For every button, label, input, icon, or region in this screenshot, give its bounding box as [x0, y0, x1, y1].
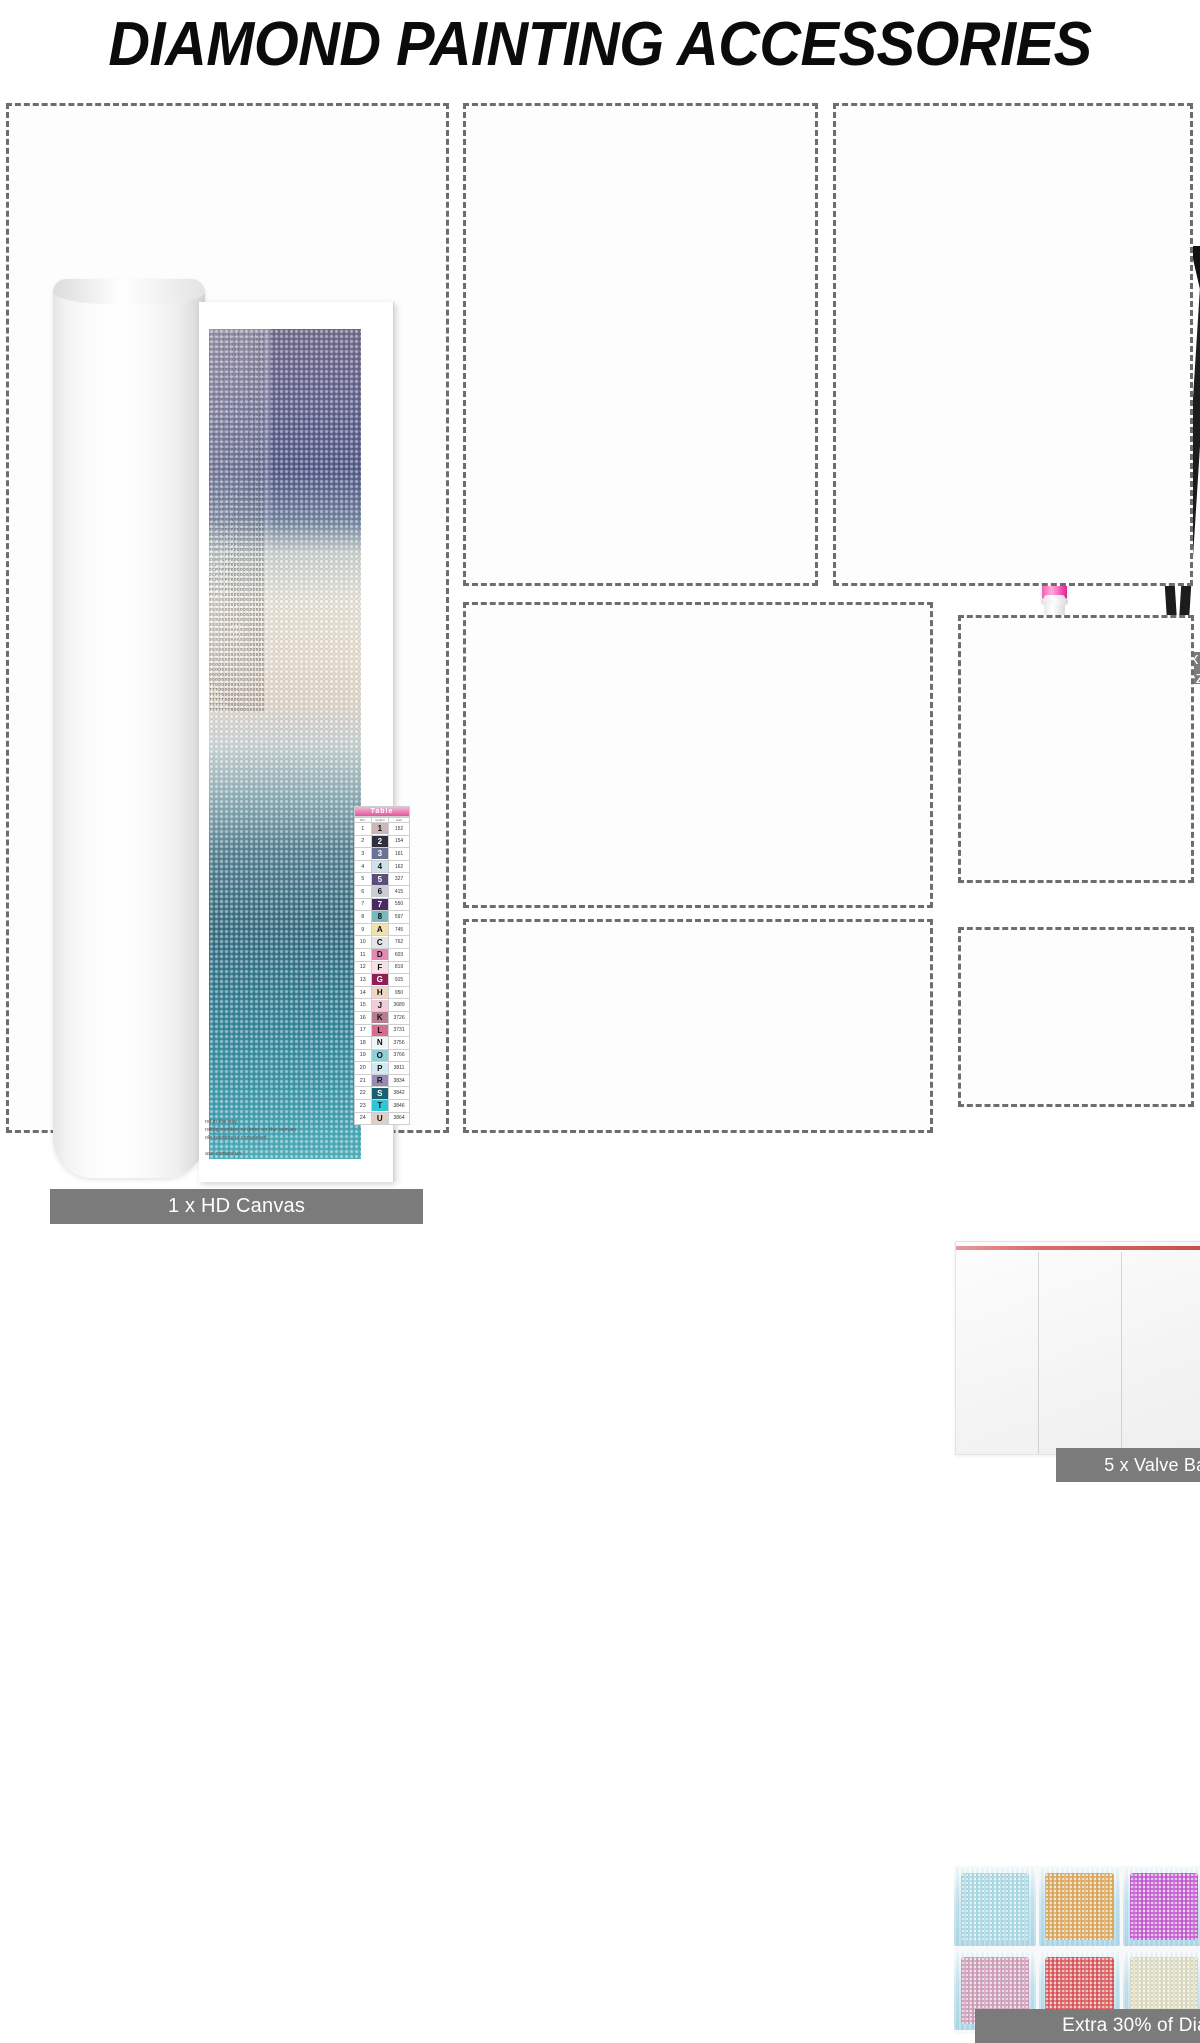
color-row-code: 162 — [389, 860, 410, 873]
color-row-code: 3731 — [389, 1024, 410, 1037]
color-row-no: 18 — [355, 1037, 372, 1050]
color-row-symbol: L — [371, 1024, 389, 1037]
valve-bag-seams — [956, 1252, 1200, 1454]
color-row-no: 7 — [355, 898, 372, 911]
valve-bag-zip-strip — [956, 1246, 1200, 1250]
color-row-code: 745 — [389, 923, 410, 936]
color-row-symbol: P — [371, 1062, 389, 1075]
color-row-code: 3726 — [389, 1011, 410, 1024]
color-row-no: 24 — [355, 1112, 372, 1125]
canvas-roll — [53, 279, 205, 1178]
color-table-row: 55327 — [355, 873, 410, 886]
color-row-no: 2 — [355, 835, 372, 848]
color-row-symbol: S — [371, 1087, 389, 1100]
color-row-no: 20 — [355, 1062, 372, 1075]
color-row-no: 17 — [355, 1024, 372, 1037]
color-row-code: 3756 — [389, 1037, 410, 1050]
color-row-code: 3689 — [389, 999, 410, 1012]
color-row-symbol: 1 — [371, 823, 389, 836]
instruction-line: ole painting is completed — [205, 1134, 385, 1142]
color-row-symbol: O — [371, 1049, 389, 1062]
color-row-no: 6 — [355, 885, 372, 898]
color-row-symbol: D — [371, 948, 389, 961]
color-table-row: 11152 — [355, 823, 410, 836]
diamond-bag — [954, 1868, 1036, 1946]
color-row-no: 19 — [355, 1049, 372, 1062]
color-row-symbol: 8 — [371, 911, 389, 924]
color-row-no: 8 — [355, 911, 372, 924]
color-row-code: 415 — [389, 885, 410, 898]
color-table-row: 77550 — [355, 898, 410, 911]
color-table-row: 10C762 — [355, 936, 410, 949]
color-row-no: 22 — [355, 1087, 372, 1100]
color-row-code: 161 — [389, 848, 410, 861]
color-table-row: 12F819 — [355, 961, 410, 974]
caption-hd-canvas: 1 x HD Canvas — [50, 1189, 423, 1224]
color-table-row: 21R3834 — [355, 1074, 410, 1087]
color-row-no: 16 — [355, 1011, 372, 1024]
color-row-code: 3846 — [389, 1100, 410, 1113]
color-table-row: 19O3766 — [355, 1049, 410, 1062]
canvas-color-table: Table NO. symbol color 11152221543316144… — [354, 806, 410, 1125]
color-table-row: 22S3842 — [355, 1087, 410, 1100]
color-row-no: 5 — [355, 873, 372, 886]
instruction-line: ase contact us. — [205, 1150, 385, 1158]
color-row-no: 10 — [355, 936, 372, 949]
color-table-row: 22154 — [355, 835, 410, 848]
diamond-bag-fill — [1130, 1873, 1199, 1940]
color-table-row: 15J3689 — [355, 999, 410, 1012]
color-table-title: Table — [354, 806, 410, 817]
color-table-row: 44162 — [355, 860, 410, 873]
color-row-symbol: 4 — [371, 860, 389, 873]
color-row-symbol: K — [371, 1011, 389, 1024]
color-row-code: 603 — [389, 948, 410, 961]
color-row-code: 597 — [389, 911, 410, 924]
color-row-no: 13 — [355, 974, 372, 987]
color-row-symbol: 5 — [371, 873, 389, 886]
color-table-row: 11D603 — [355, 948, 410, 961]
color-row-symbol: A — [371, 923, 389, 936]
color-row-no: 9 — [355, 923, 372, 936]
panel-pen-tweezer: 1 x Diamond Pen 1 x Tweezer — [463, 103, 818, 586]
color-table-row: 9A745 — [355, 923, 410, 936]
diamond-bag — [1123, 1868, 1200, 1946]
color-table-row: 17L3731 — [355, 1024, 410, 1037]
color-table-header-row: NO. symbol color — [355, 818, 410, 823]
color-table-row: 33161 — [355, 848, 410, 861]
color-row-symbol: J — [371, 999, 389, 1012]
color-row-code: 762 — [389, 936, 410, 949]
color-row-no: 12 — [355, 961, 372, 974]
color-row-code: 550 — [389, 898, 410, 911]
color-row-no: 1 — [355, 823, 372, 836]
color-row-no: 14 — [355, 986, 372, 999]
caption-valve-bags: 5 x Valve Bags — [1056, 1448, 1200, 1482]
diamond-bag-row-top — [954, 1868, 1200, 1948]
color-row-no: 4 — [355, 860, 372, 873]
infographic-page: DIAMOND PAINTING ACCESSORIES 55SS5KKKKK3… — [0, 0, 1200, 1139]
color-row-code: 915 — [389, 974, 410, 987]
color-table-row: 66415 — [355, 885, 410, 898]
color-row-symbol: U — [371, 1112, 389, 1125]
color-row-no: 21 — [355, 1074, 372, 1087]
color-row-symbol: G — [371, 974, 389, 987]
color-row-code: 154 — [389, 835, 410, 848]
panel-plastic-tray: 1 x Plastic Tray — [833, 103, 1193, 586]
color-row-no: 15 — [355, 999, 372, 1012]
color-row-code: 152 — [389, 823, 410, 836]
diamond-bag — [1039, 1868, 1121, 1946]
color-table-row: 23T3846 — [355, 1100, 410, 1113]
diamond-bag-fill — [961, 1873, 1030, 1940]
color-row-no: 3 — [355, 848, 372, 861]
instruction-line: nding number or letter on the canvas — [205, 1126, 385, 1134]
color-table-row: 16K3726 — [355, 1011, 410, 1024]
color-row-code: 3811 — [389, 1062, 410, 1075]
panel-extra-diamonds: Extra 30% of Diamonds — [463, 919, 933, 1133]
panel-valve-bags: 5 x Valve Bags — [463, 602, 933, 908]
color-row-symbol: H — [371, 986, 389, 999]
panel-pen-head: 2 x Pen Head (1*3 drill,1*6 drill) — [958, 615, 1194, 883]
color-row-symbol: C — [371, 936, 389, 949]
color-row-symbol: R — [371, 1074, 389, 1087]
color-table-row: 24U3864 — [355, 1112, 410, 1125]
color-row-code: 327 — [389, 873, 410, 886]
color-row-code: 819 — [389, 961, 410, 974]
panel-hd-canvas: 55SS5KKKKK33JJ3KKS 5SS55KKK333JJ33KKK SS… — [6, 103, 449, 1133]
artwork-sheen — [209, 329, 270, 1159]
canvas-artwork: 55SS5KKKKK33JJ3KKS 5SS55KKK333JJ33KKK SS… — [209, 329, 361, 1159]
panel-glue: 1xGlue — [958, 927, 1194, 1107]
color-row-symbol: T — [371, 1100, 389, 1113]
color-row-symbol: 6 — [371, 885, 389, 898]
color-table-body: 1115222154331614416255327664157755088597… — [355, 823, 410, 1125]
color-table-row: 88597 — [355, 911, 410, 924]
color-row-code: 3834 — [389, 1074, 410, 1087]
page-title: DIAMOND PAINTING ACCESSORIES — [42, 2, 1158, 86]
color-row-code: 3766 — [389, 1049, 410, 1062]
color-table-row: 14H950 — [355, 986, 410, 999]
color-row-symbol: 2 — [371, 835, 389, 848]
color-table-row: 20P3811 — [355, 1062, 410, 1075]
diamond-bag-fill — [1045, 1873, 1114, 1940]
color-row-code: 3864 — [389, 1112, 410, 1125]
color-row-symbol: F — [371, 961, 389, 974]
caption-extra-diamonds: Extra 30% of Diamonds — [975, 2009, 1200, 2043]
valve-bags — [955, 1241, 1200, 1455]
color-table-row: 18N3756 — [355, 1037, 410, 1050]
color-row-code: 3842 — [389, 1087, 410, 1100]
color-row-code: 950 — [389, 986, 410, 999]
color-row-symbol: 3 — [371, 848, 389, 861]
color-row-symbol: 7 — [371, 898, 389, 911]
color-row-no: 23 — [355, 1100, 372, 1113]
color-table-row: 13G915 — [355, 974, 410, 987]
color-row-symbol: N — [371, 1037, 389, 1050]
color-row-no: 11 — [355, 948, 372, 961]
